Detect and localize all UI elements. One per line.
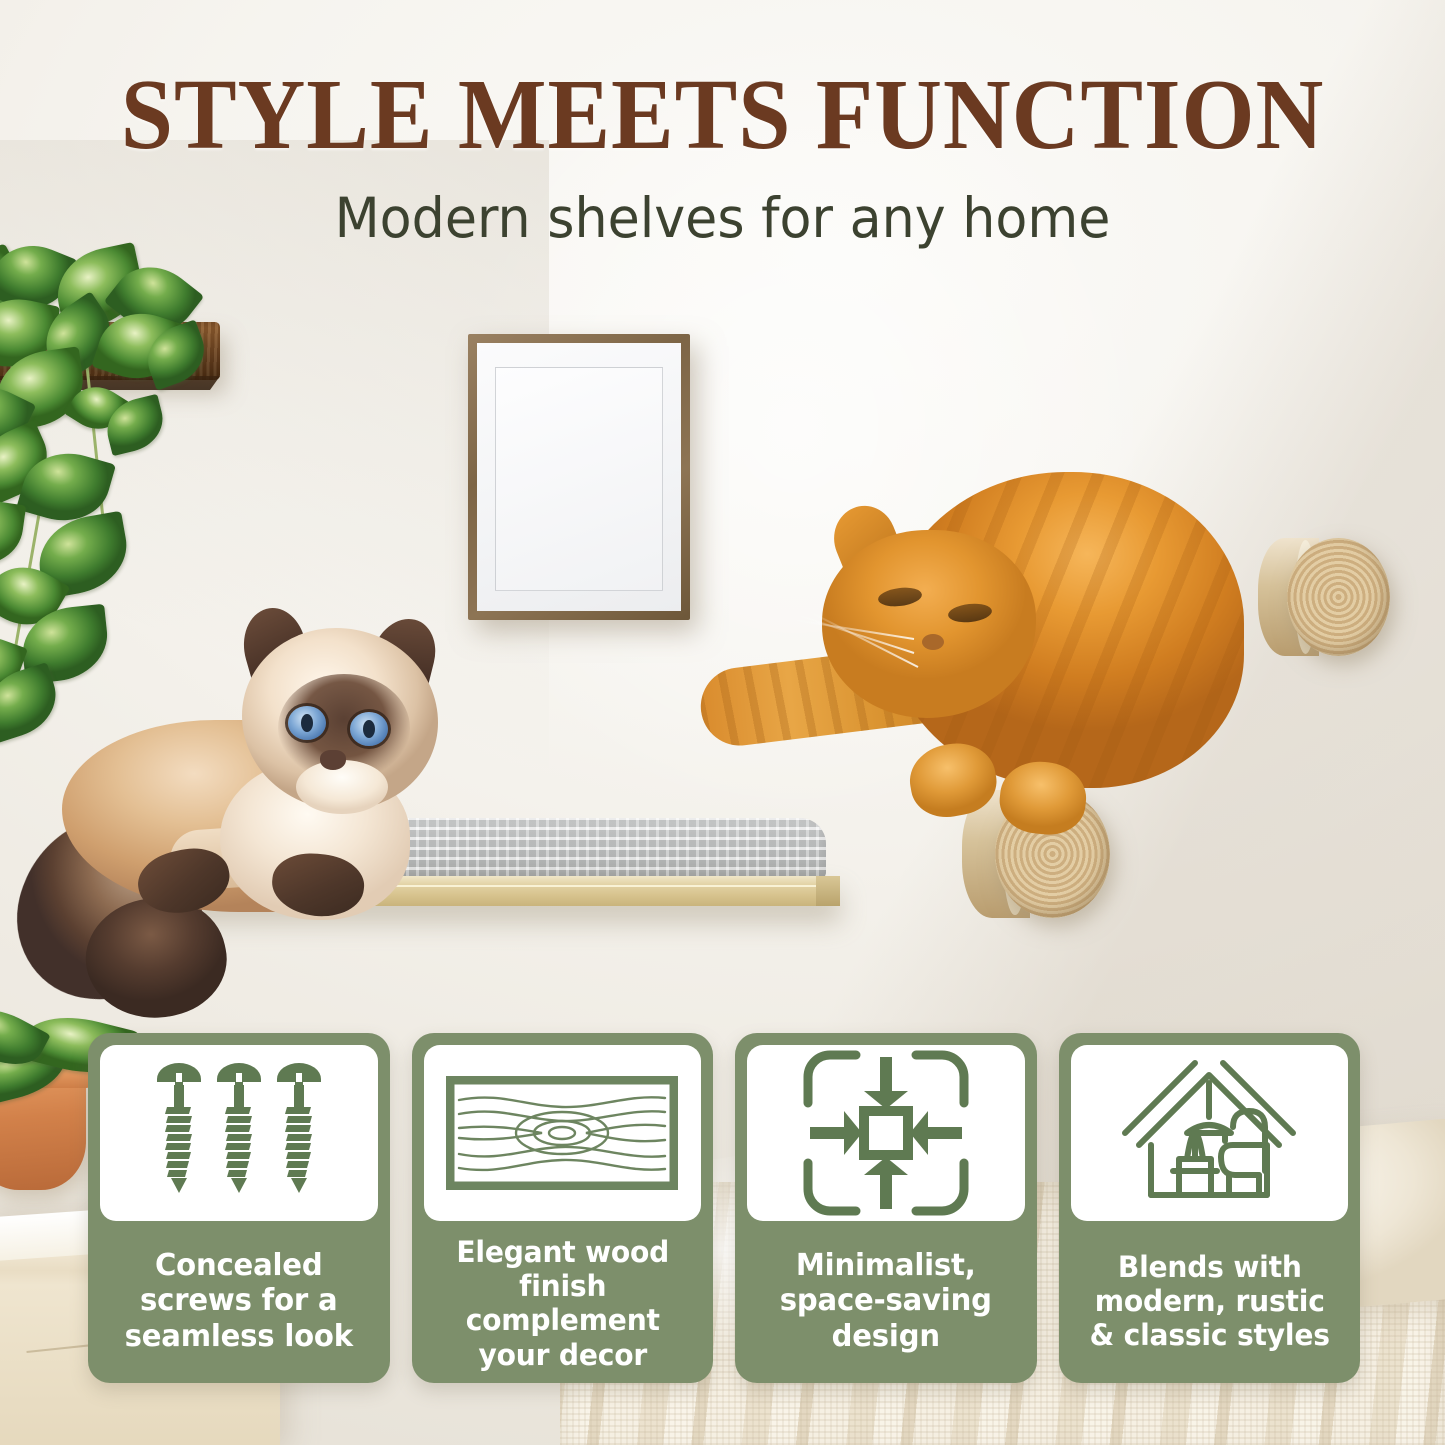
feature-label: Minimalist, space-saving design — [751, 1221, 1020, 1373]
cat-nose — [320, 750, 346, 770]
house-interior-icon — [1071, 1045, 1349, 1221]
feature-label: Concealed screws for a seamless look — [104, 1221, 373, 1373]
feature-card-space-saving[interactable]: Minimalist, space-saving design — [735, 1033, 1037, 1383]
feature-card-wood-finish[interactable]: Elegant wood finish complement your deco… — [412, 1033, 714, 1383]
cat-head — [822, 530, 1036, 718]
feature-cards: Concealed screws for a seamless look — [88, 1033, 1360, 1383]
feature-label: Elegant wood finish complement your deco… — [428, 1221, 697, 1378]
empty-picture-frame — [468, 334, 690, 620]
frame-inner-border — [495, 367, 663, 591]
cat-muzzle — [296, 760, 388, 814]
screws-icon — [100, 1045, 378, 1221]
product-lifestyle-image: STYLE MEETS FUNCTION Modern shelves for … — [0, 0, 1445, 1445]
cat-eye-left — [288, 706, 326, 740]
sisal-rope-spiral — [1287, 538, 1390, 656]
space-saving-arrows-icon — [747, 1045, 1025, 1221]
frame-mat — [477, 343, 681, 611]
page-title: STYLE MEETS FUNCTION — [51, 64, 1395, 165]
feature-label: Blends with modern, rustic & classic sty… — [1075, 1221, 1344, 1373]
shelf-end-edge — [816, 876, 840, 906]
cat-nose — [922, 634, 944, 650]
feature-card-blends-styles[interactable]: Blends with modern, rustic & classic sty… — [1059, 1033, 1361, 1383]
feature-card-concealed-screws[interactable]: Concealed screws for a seamless look — [88, 1033, 390, 1383]
ragdoll-cat — [20, 612, 450, 1012]
wood-grain-icon — [424, 1045, 702, 1221]
orange-tabby-cat — [760, 462, 1240, 862]
cat-eye-right — [350, 712, 388, 746]
sisal-step-upper — [1258, 538, 1390, 656]
